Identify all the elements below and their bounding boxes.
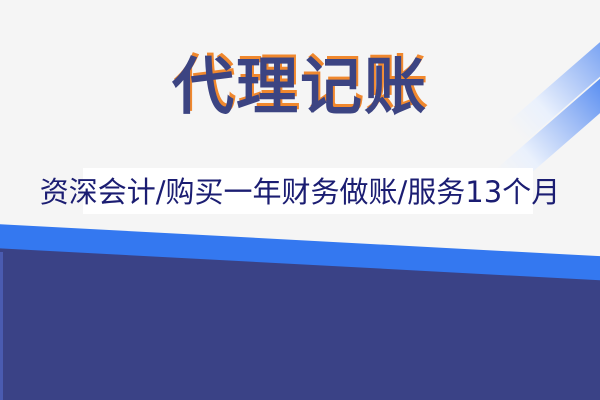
banner-subtitle-container: 资深会计/购买一年财务做账/服务13个月 — [0, 176, 600, 209]
navy-band-fill — [0, 285, 600, 400]
banner-title-container: 代理记账 — [0, 56, 600, 118]
banner-title: 代理记账 — [172, 56, 428, 118]
navy-band-left-edge-highlight — [0, 252, 3, 400]
promo-banner: 代理记账 资深会计/购买一年财务做账/服务13个月 — [0, 0, 600, 400]
banner-subtitle: 资深会计/购买一年财务做账/服务13个月 — [40, 176, 560, 209]
